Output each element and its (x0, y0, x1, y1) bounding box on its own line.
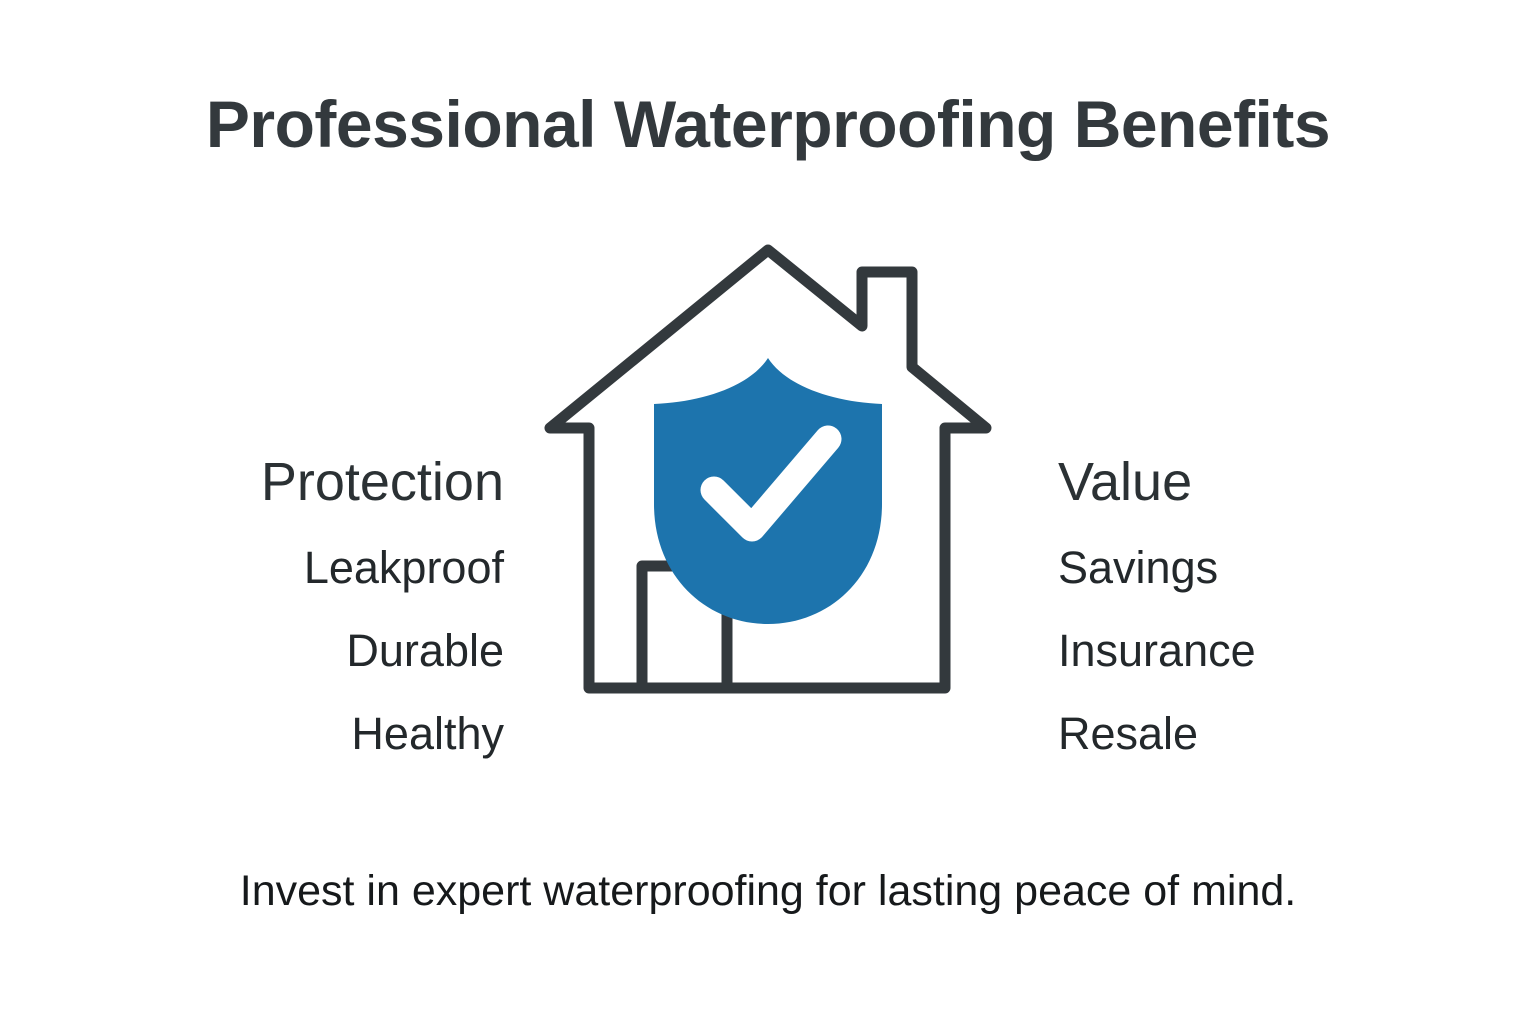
benefit-item-durable: Durable (104, 628, 504, 673)
benefit-item-healthy: Healthy (104, 711, 504, 756)
benefit-item-resale: Resale (1058, 711, 1458, 756)
benefits-column-protection: Protection Leakproof Durable Healthy (104, 455, 504, 756)
page-title: Professional Waterproofing Benefits (0, 88, 1536, 161)
infographic-canvas: Professional Waterproofing Benefits Prot… (0, 0, 1536, 1024)
benefit-item-insurance: Insurance (1058, 628, 1458, 673)
column-heading-value: Value (1058, 455, 1458, 509)
house-shield-icon (528, 236, 1008, 716)
benefits-column-value: Value Savings Insurance Resale (1058, 455, 1458, 756)
benefit-item-leakproof: Leakproof (104, 545, 504, 590)
column-heading-protection: Protection (104, 455, 504, 509)
benefit-item-savings: Savings (1058, 545, 1458, 590)
footer-caption: Invest in expert waterproofing for lasti… (0, 866, 1536, 918)
